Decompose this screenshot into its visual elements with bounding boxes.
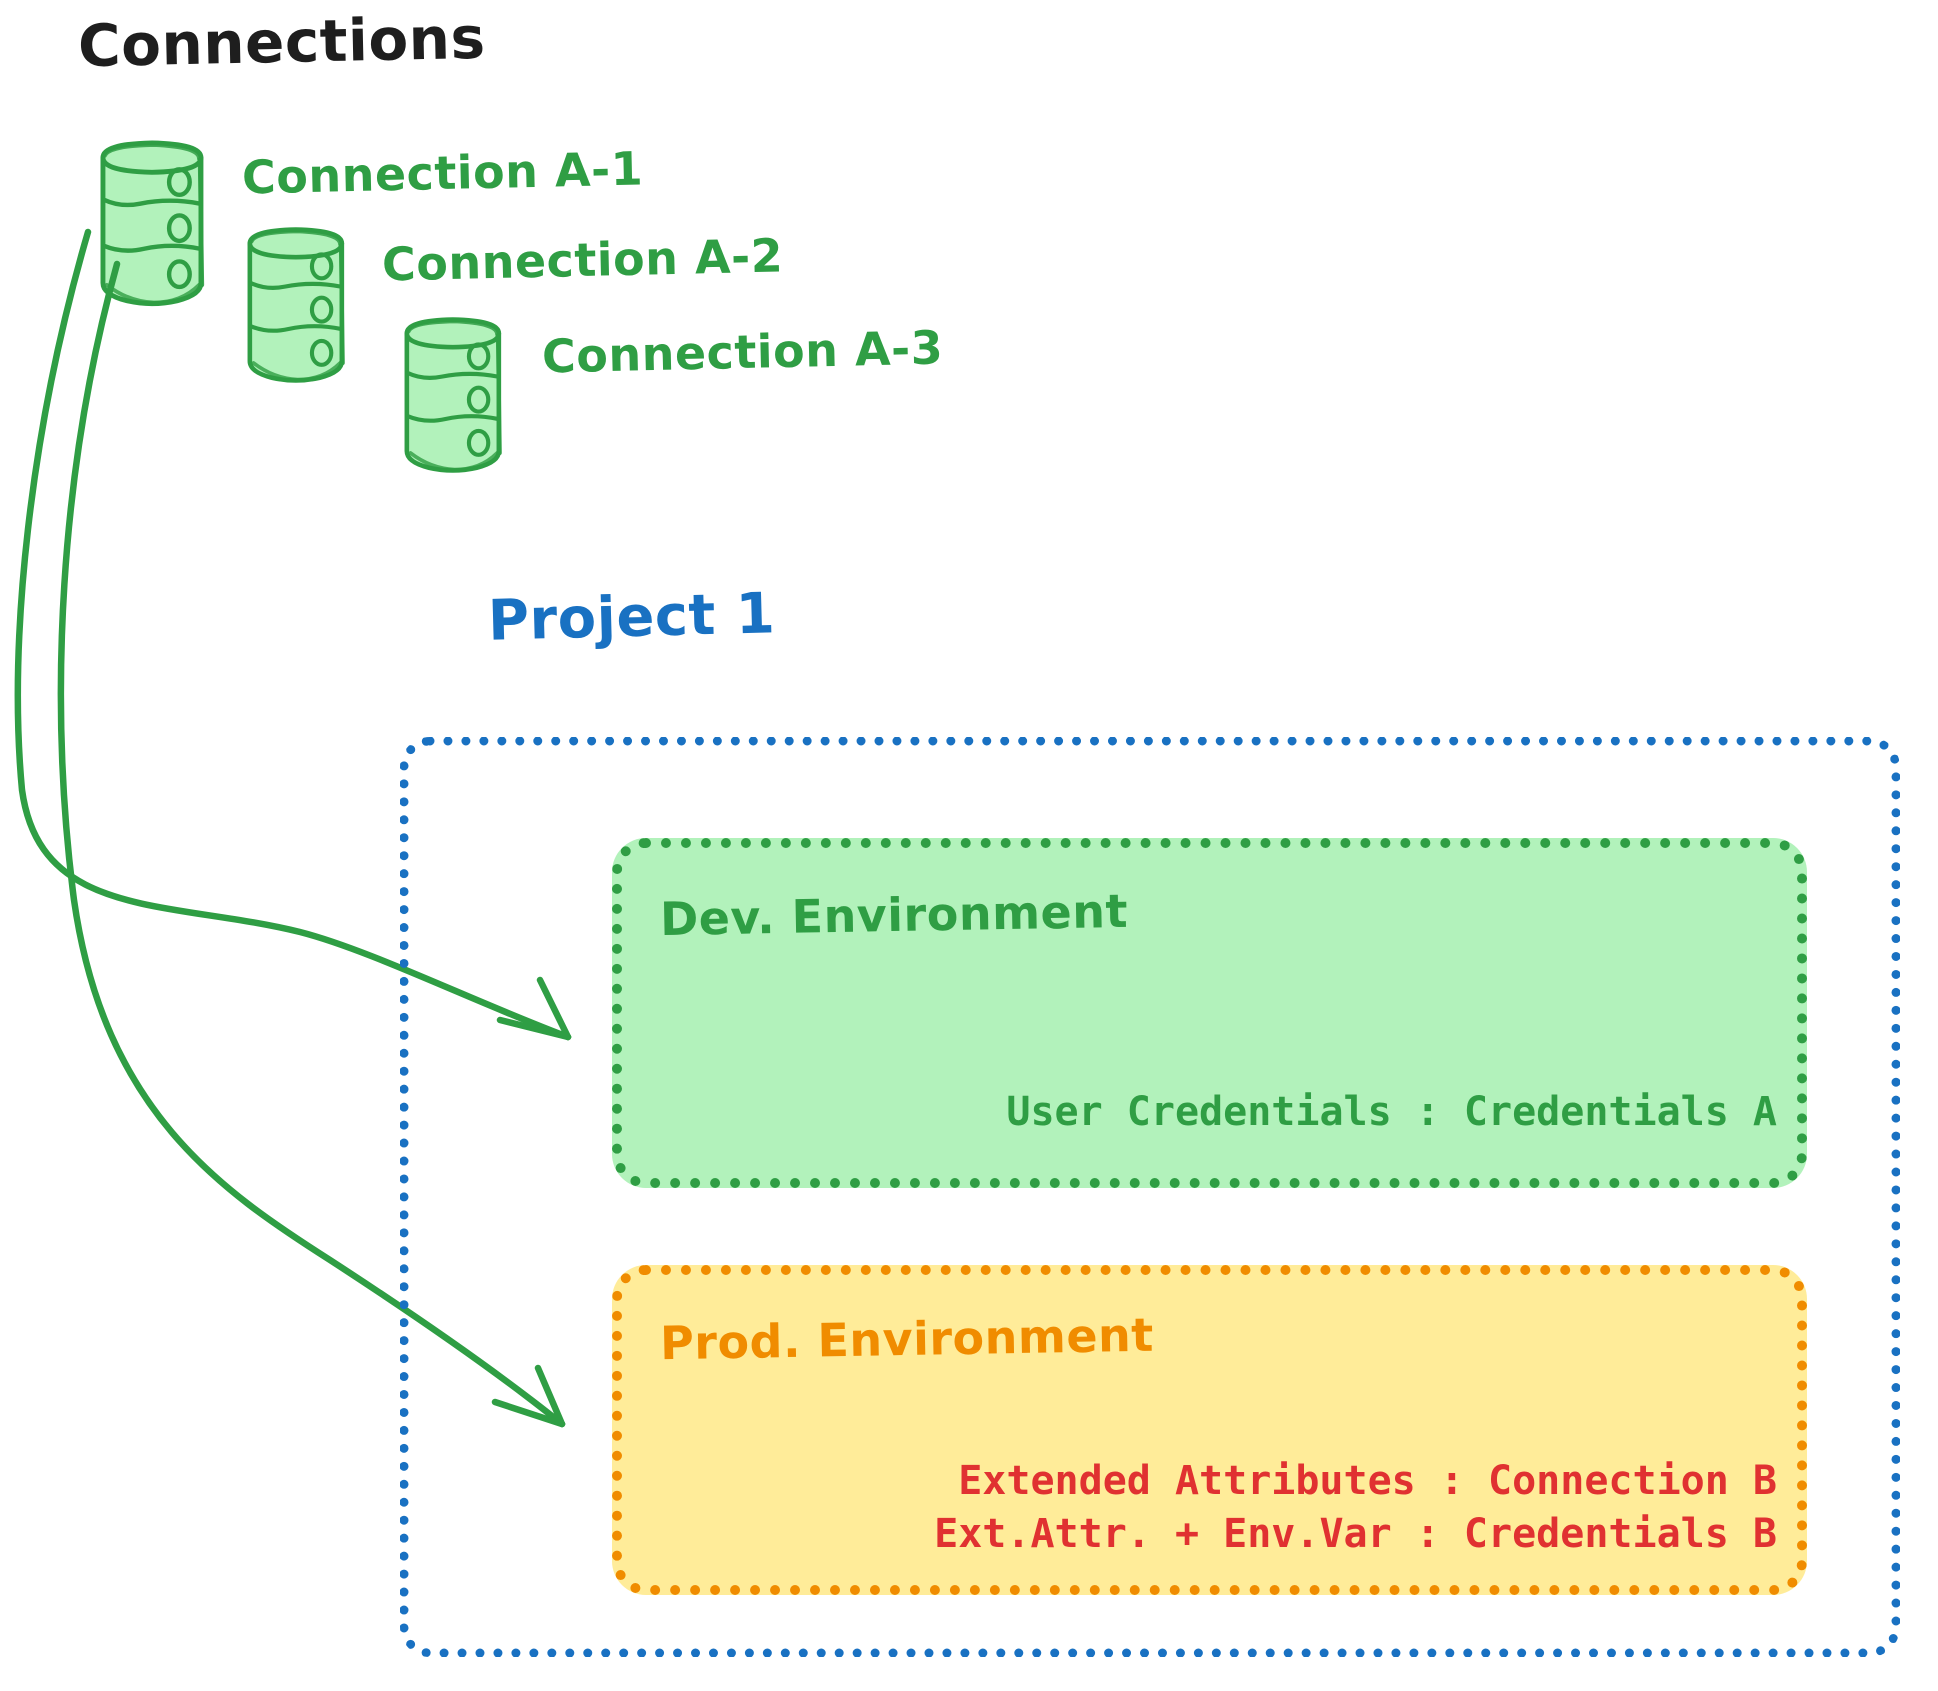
dev-environment-details: User Credentials : Credentials A (807, 1086, 1777, 1139)
database-cylinder-icon (103, 143, 202, 304)
connections-heading: Connections (77, 4, 486, 81)
diagram-canvas: Connections Connection A-1 Connection A-… (0, 0, 1938, 1691)
connection-label: Connection A-2 (381, 228, 783, 291)
dev-environment-title: Dev. Environment (660, 884, 1129, 946)
database-cylinder-icon (250, 230, 343, 381)
prod-environment-title: Prod. Environment (660, 1308, 1155, 1371)
prod-detail-line: Extended Attributes : Connection B (757, 1455, 1777, 1508)
project-title: Project 1 (487, 581, 776, 653)
connection-label: Connection A-3 (541, 320, 943, 383)
prod-detail-line: Ext.Attr. + Env.Var : Credentials B (757, 1508, 1777, 1561)
dev-detail-line: User Credentials : Credentials A (807, 1086, 1777, 1139)
database-cylinder-icon (407, 320, 500, 471)
connection-label: Connection A-1 (241, 141, 643, 204)
prod-environment-details: Extended Attributes : Connection B Ext.A… (757, 1455, 1777, 1561)
